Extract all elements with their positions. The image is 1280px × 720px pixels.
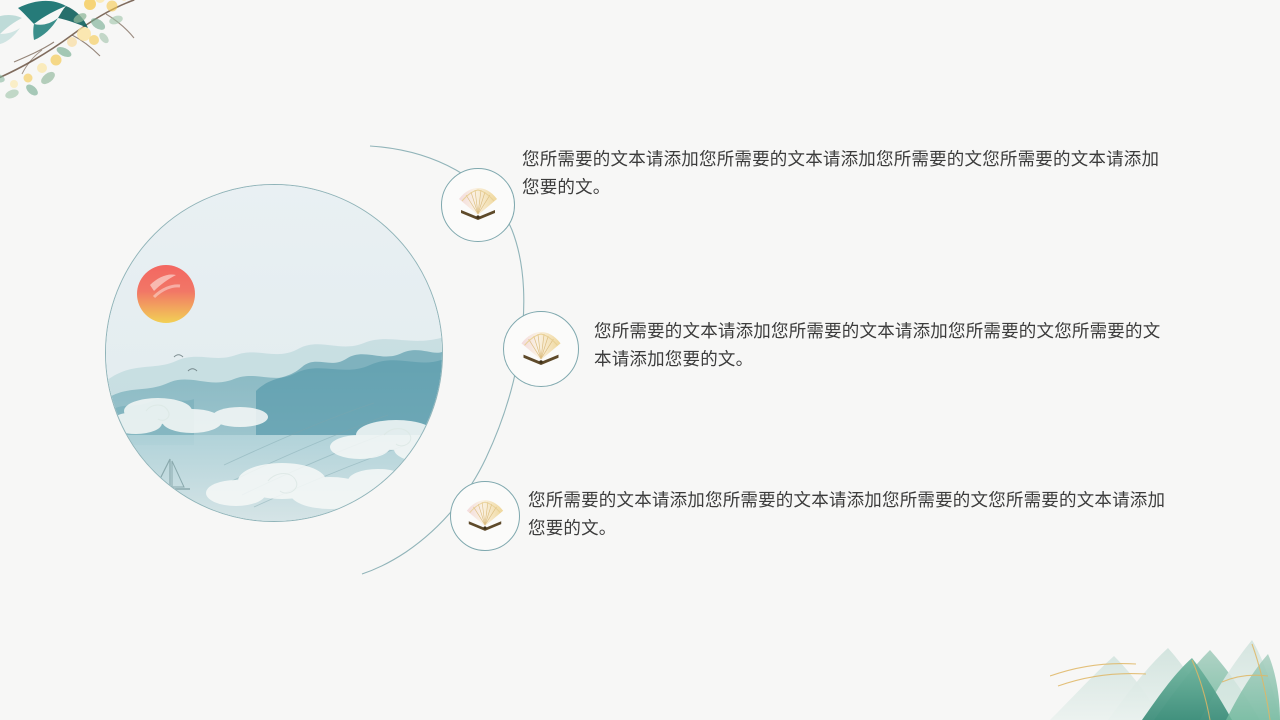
fan-icon-circle-2[interactable] [503,311,579,387]
folding-fan-icon [456,188,500,222]
watercolor-mountain-decoration [1050,620,1280,720]
leaf-cluster [0,11,124,100]
folding-fan-icon [518,332,564,367]
ink-landscape-illustration [106,185,443,522]
watercolor-branch-decoration [0,0,194,120]
node-text-1: 您所需要的文本请添加您所需要的文本请添加您所需要的文您所需要的文本请添加您要的文… [522,145,1166,202]
folding-fan-icon [464,500,506,533]
branch-stems [0,0,170,82]
slide-canvas: 您所需要的文本请添加您所需要的文本请添加您所需要的文您所需要的文本请添加您要的文… [0,0,1280,720]
blossom-cluster [10,0,129,88]
node-text-3: 您所需要的文本请添加您所需要的文本请添加您所需要的文您所需要的文本请添加您要的文… [528,486,1168,543]
gold-accent-lines [1050,644,1270,720]
landscape-image-circle [105,184,443,522]
fan-icon-circle-1[interactable] [441,168,515,242]
node-text-2: 您所需要的文本请添加您所需要的文本请添加您所需要的文您所需要的文本请添加您要的文… [594,317,1172,374]
swallow-bird-small [0,15,22,44]
swallow-bird-large [18,1,88,40]
fan-icon-circle-3[interactable] [450,481,520,551]
sun-shape [137,265,195,323]
